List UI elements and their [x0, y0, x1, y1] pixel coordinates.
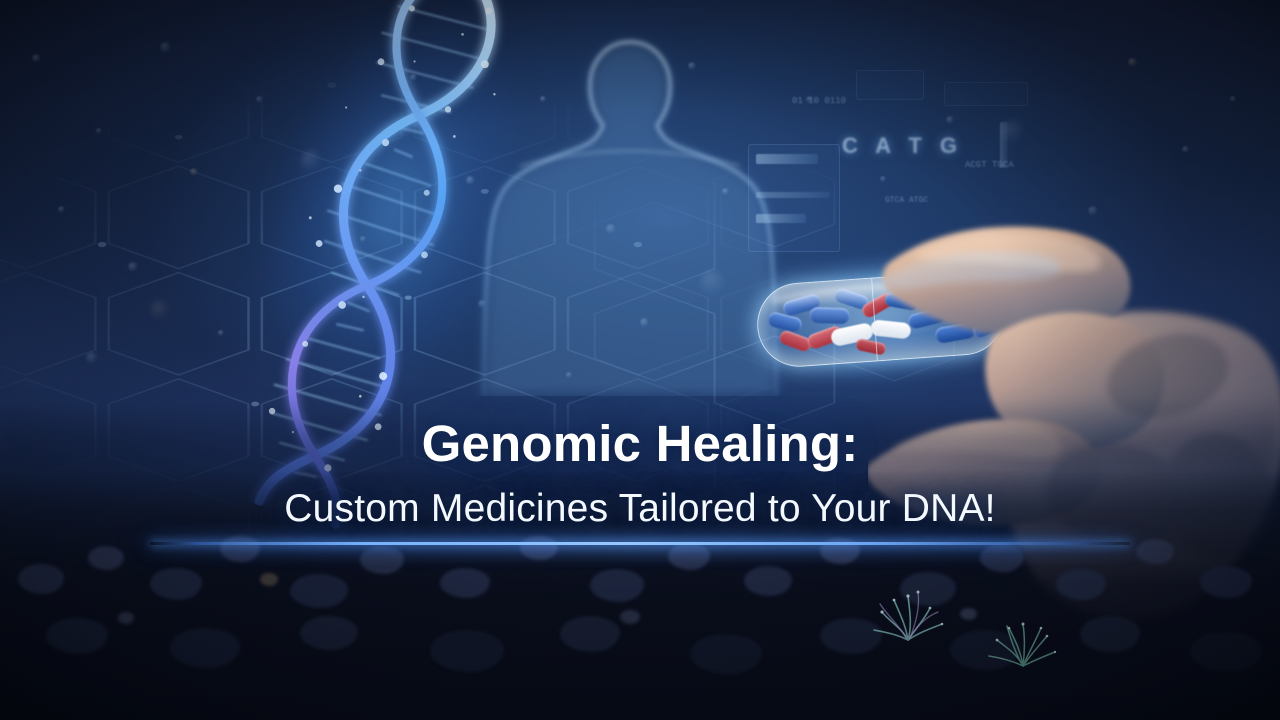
vignette-overlay	[0, 0, 1280, 720]
page-subtitle: Custom Medicines Tailored to Your DNA!	[0, 487, 1280, 531]
banner-image: C A T G 01 10 0110 ACGT TGCA GTCA ATGC	[0, 0, 1280, 720]
accent-rule	[150, 542, 1130, 545]
page-title: Genomic Healing:	[0, 414, 1280, 473]
